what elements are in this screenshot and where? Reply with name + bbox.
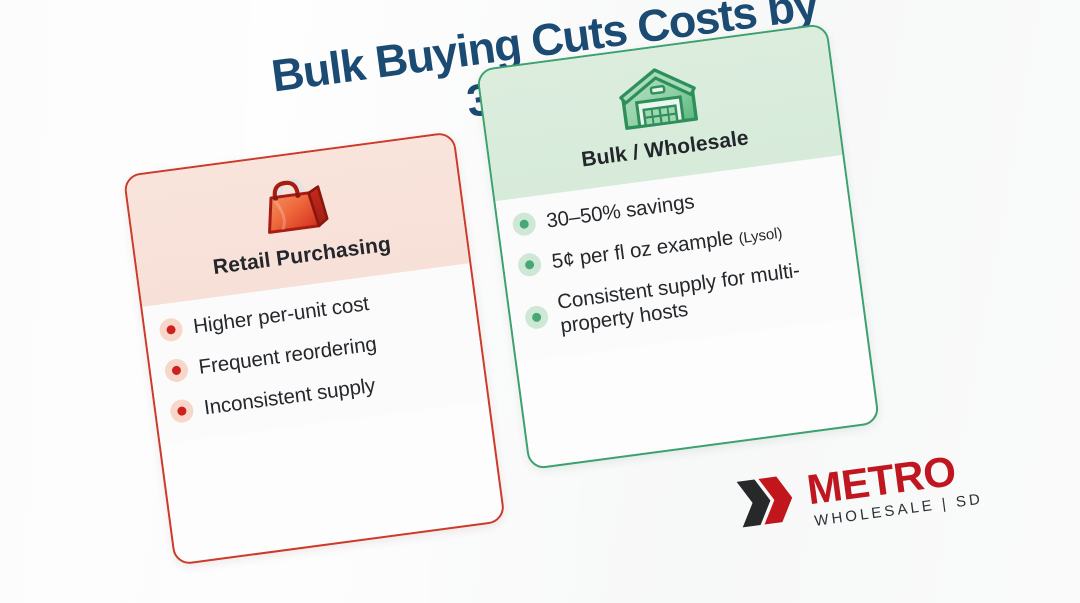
metro-wholesale-logo: METRO WHOLESALE | SD	[734, 447, 984, 539]
metro-logo-text: METRO WHOLESALE | SD	[805, 447, 984, 529]
infographic-stage: Bulk Buying Cuts Costs by 30–50%.	[0, 0, 1080, 603]
card-retail-purchasing: Retail Purchasing Higher per-unit cost F…	[123, 131, 506, 566]
bullet-text: 30–50% savings	[545, 190, 696, 233]
bullet-dot-icon	[517, 252, 543, 278]
metro-chevron-icon	[734, 471, 803, 536]
bullet-dot-icon	[169, 399, 195, 425]
paper-sheet-wrapper: Bulk Buying Cuts Costs by 30–50%.	[0, 0, 1080, 603]
card-bulk-wholesale: Bulk / Wholesale 30–50% savings 5¢ per f…	[476, 23, 880, 470]
bullet-dot-icon	[524, 305, 550, 331]
bulk-bullet-list: 30–50% savings 5¢ per fl oz example (Lys…	[511, 172, 845, 343]
bullet-dot-icon	[158, 317, 184, 343]
bullet-text: Higher per-unit cost	[192, 292, 371, 339]
bullet-text: Frequent reordering	[197, 332, 378, 379]
bullet-dot-icon	[511, 212, 537, 238]
bullet-note: (Lysol)	[738, 225, 784, 248]
bullet-dot-icon	[164, 358, 190, 384]
retail-bullet-list: Higher per-unit cost Frequent reordering…	[158, 280, 469, 425]
bullet-text: Inconsistent supply	[203, 374, 377, 421]
